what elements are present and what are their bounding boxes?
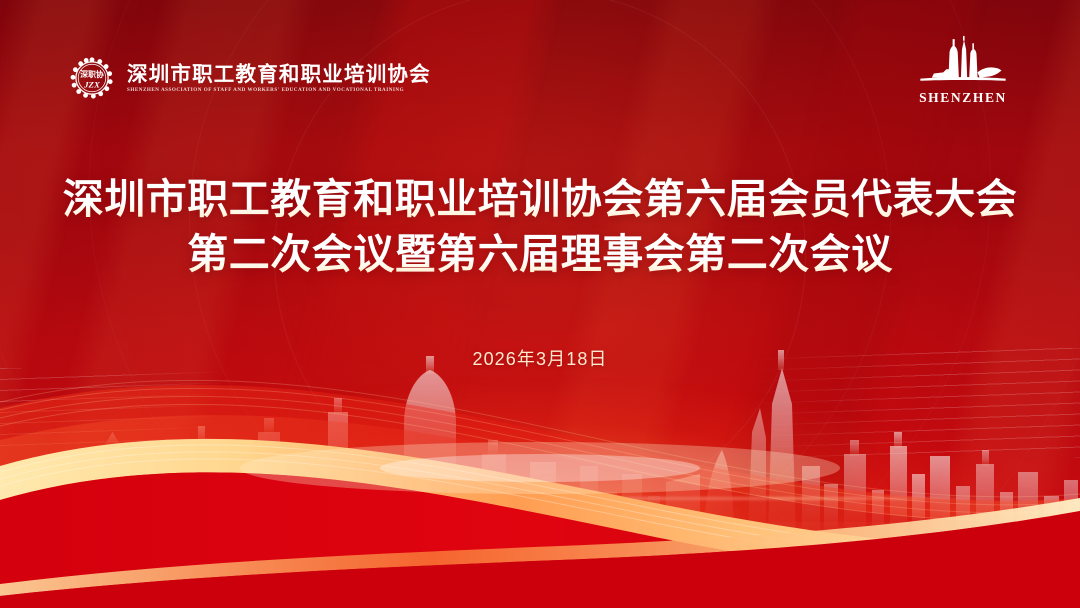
conference-title-line-1: 深圳市职工教育和职业培训协会第六届会员代表大会 bbox=[0, 172, 1080, 227]
conference-title-block: 深圳市职工教育和职业培训协会第六届会员代表大会 第二次会议暨第六届理事会第二次会… bbox=[0, 172, 1080, 282]
conference-date: 2026年3月18日 bbox=[0, 345, 1080, 371]
shenzhen-city-logo: SHENZHEN bbox=[908, 36, 1018, 105]
svg-text:深职协: 深职协 bbox=[80, 69, 104, 79]
association-seal-icon: 深职协 JZX bbox=[66, 52, 118, 104]
association-name-cn: 深圳市职工教育和职业培训协会 bbox=[127, 65, 431, 86]
shenzhen-city-name: SHENZHEN bbox=[919, 91, 1007, 105]
poster-canvas: 深职协 JZX 深圳市职工教育和职业培训协会 SHENZHEN ASSOCIAT… bbox=[0, 0, 1080, 608]
association-name-en: SHENZHEN ASSOCIATION OF STAFF AND WORKER… bbox=[127, 88, 431, 93]
conference-title-line-2: 第二次会议暨第六届理事会第二次会议 bbox=[0, 227, 1080, 282]
shenzhen-skyline-icon bbox=[916, 36, 1010, 88]
svg-text:JZX: JZX bbox=[83, 79, 101, 89]
flowing-ribbon-waves-icon bbox=[0, 348, 1080, 608]
association-logo: 深职协 JZX 深圳市职工教育和职业培训协会 SHENZHEN ASSOCIAT… bbox=[66, 52, 431, 104]
